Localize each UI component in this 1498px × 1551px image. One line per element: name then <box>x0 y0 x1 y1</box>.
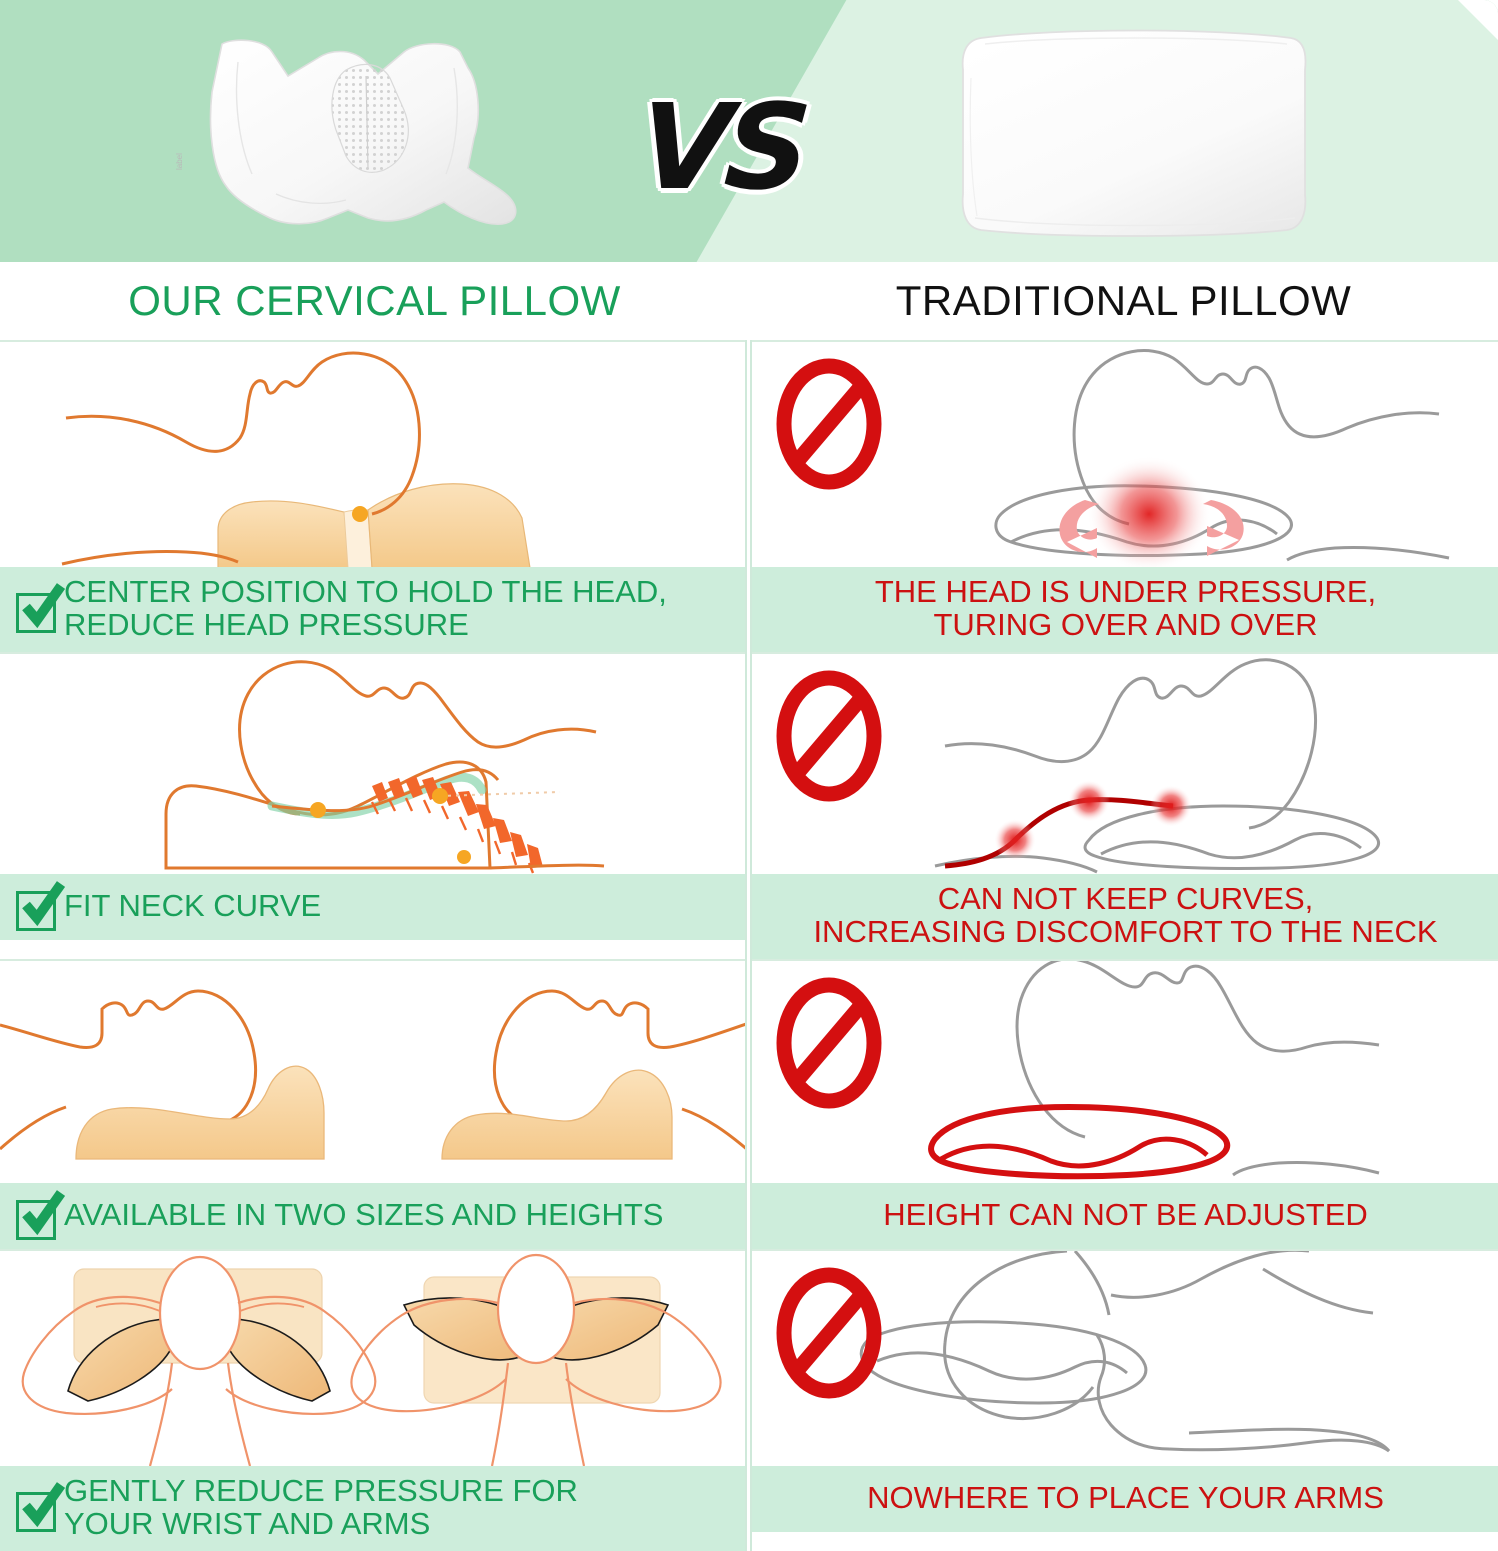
row-4-left-cell: GENTLY REDUCE PRESSURE FOR YOUR WRIST AN… <box>0 1249 749 1551</box>
column-divider <box>745 340 752 1551</box>
hero-banner: label VS <box>0 0 1498 262</box>
row-4-right-caption: NOWHERE TO PLACE YOUR ARMS <box>749 1466 1498 1532</box>
row-3-right-caption: HEIGHT CAN NOT BE ADJUSTED <box>749 1183 1498 1249</box>
row-3-right-illustration <box>749 961 1498 1183</box>
row-2-right-caption-text: CAN NOT KEEP CURVES, INCREASING DISCOMFO… <box>813 882 1437 949</box>
row-2-left-cell: FIT NECK CURVE <box>0 652 749 959</box>
row-2-left-caption-text: FIT NECK CURVE <box>64 889 321 922</box>
check-box-icon <box>14 1484 60 1530</box>
cervical-pillow-photo: label <box>168 18 568 246</box>
row-3-left-caption-text: AVAILABLE IN TWO SIZES AND HEIGHTS <box>64 1198 663 1231</box>
row-2-left-caption: FIT NECK CURVE <box>0 874 749 940</box>
svg-text:label: label <box>175 153 184 170</box>
comparison-infographic: label VS OUR CERVI <box>0 0 1498 1500</box>
row-1-right-caption: THE HEAD IS UNDER PRESSURE, TURING OVER … <box>749 567 1498 652</box>
row-1-left-cell: CENTER POSITION TO HOLD THE HEAD, REDUCE… <box>0 340 749 652</box>
row-4-left-caption: GENTLY REDUCE PRESSURE FOR YOUR WRIST AN… <box>0 1466 749 1551</box>
prohibition-sign-icon <box>773 1265 885 1401</box>
row-4-right-caption-text: NOWHERE TO PLACE YOUR ARMS <box>867 1481 1384 1514</box>
row-2-right-cell: CAN NOT KEEP CURVES, INCREASING DISCOMFO… <box>749 652 1498 959</box>
prohibition-sign-icon <box>773 356 885 492</box>
vs-label: VS <box>635 78 809 216</box>
row-3-right-caption-text: HEIGHT CAN NOT BE ADJUSTED <box>883 1198 1368 1231</box>
row-4-left-caption-text: GENTLY REDUCE PRESSURE FOR YOUR WRIST AN… <box>64 1474 578 1541</box>
row-2-left-illustration <box>0 654 749 874</box>
row-1-right-illustration <box>749 342 1498 567</box>
column-headers: OUR CERVICAL PILLOW TRADITIONAL PILLOW <box>0 262 1498 340</box>
header-our-cervical-pillow: OUR CERVICAL PILLOW <box>0 262 749 340</box>
row-4-right-illustration <box>749 1251 1498 1466</box>
comparison-grid: CENTER POSITION TO HOLD THE HEAD, REDUCE… <box>0 340 1498 1551</box>
check-box-icon <box>14 585 60 631</box>
traditional-pillow-photo <box>955 18 1315 246</box>
row-3-right-cell: HEIGHT CAN NOT BE ADJUSTED <box>749 959 1498 1249</box>
prohibition-sign-icon <box>773 975 885 1111</box>
row-3-left-caption: AVAILABLE IN TWO SIZES AND HEIGHTS <box>0 1183 749 1249</box>
row-2-right-illustration <box>749 654 1498 874</box>
prohibition-sign-icon <box>773 668 885 804</box>
row-1-left-illustration <box>0 342 749 567</box>
row-4-right-cell: NOWHERE TO PLACE YOUR ARMS <box>749 1249 1498 1551</box>
row-1-right-caption-text: THE HEAD IS UNDER PRESSURE, TURING OVER … <box>875 575 1376 642</box>
check-box-icon <box>14 883 60 929</box>
row-4-left-illustration <box>0 1251 749 1466</box>
row-1-left-caption-text: CENTER POSITION TO HOLD THE HEAD, REDUCE… <box>64 575 667 642</box>
check-box-icon <box>14 1192 60 1238</box>
row-3-left-illustration <box>0 961 749 1183</box>
row-2-right-caption: CAN NOT KEEP CURVES, INCREASING DISCOMFO… <box>749 874 1498 959</box>
row-1-left-caption: CENTER POSITION TO HOLD THE HEAD, REDUCE… <box>0 567 749 652</box>
row-1-right-cell: THE HEAD IS UNDER PRESSURE, TURING OVER … <box>749 340 1498 652</box>
row-3-left-cell: AVAILABLE IN TWO SIZES AND HEIGHTS <box>0 959 749 1249</box>
header-traditional-pillow: TRADITIONAL PILLOW <box>749 262 1498 340</box>
